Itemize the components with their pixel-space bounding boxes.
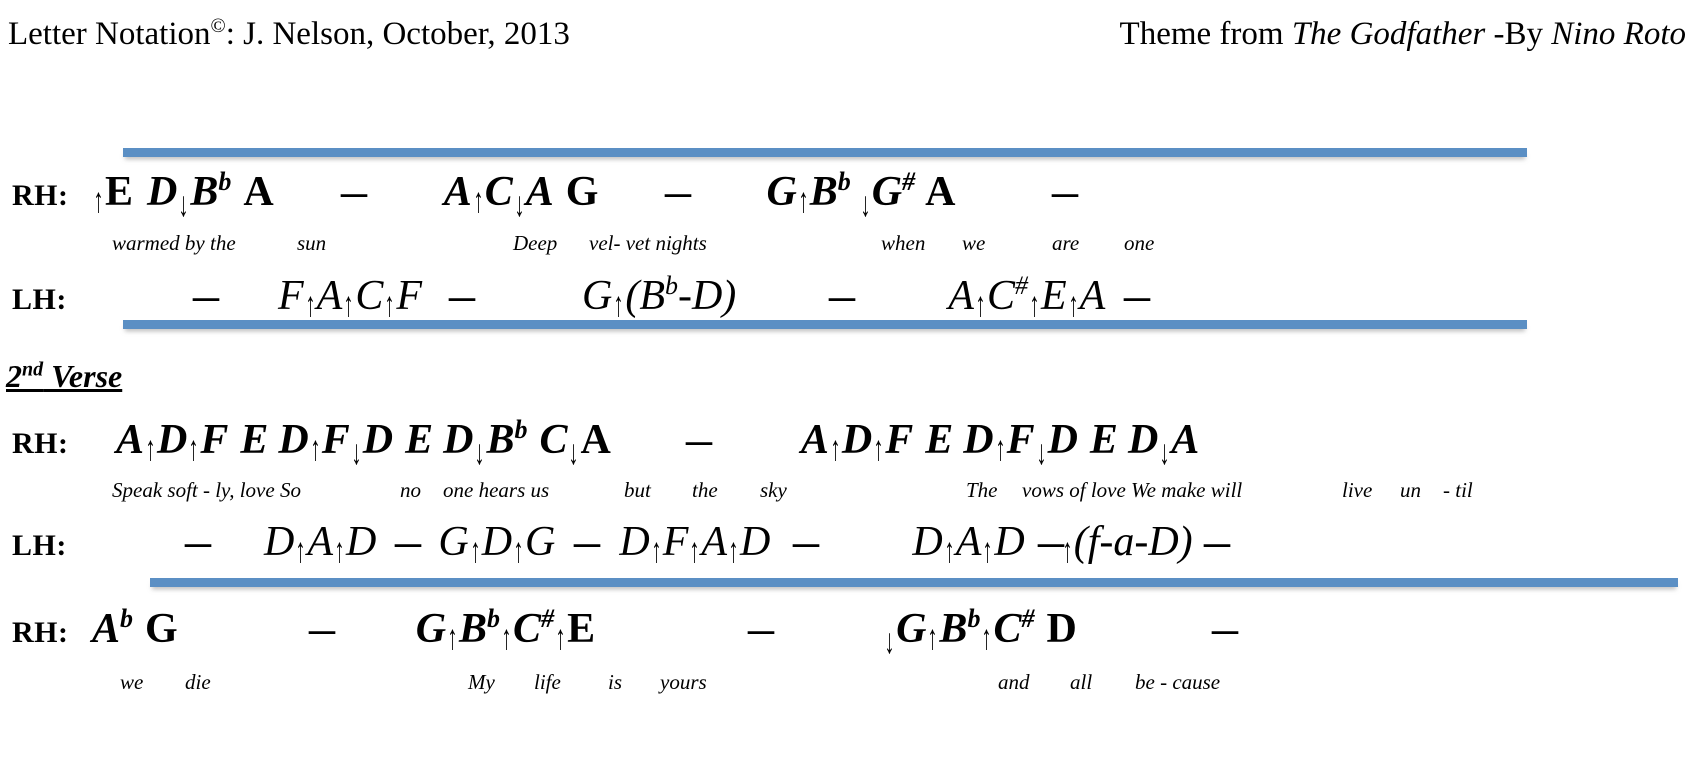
copyright-icon: © bbox=[211, 15, 226, 37]
note-Csharp: C# bbox=[987, 273, 1028, 319]
arrow-up-icon: ↑ bbox=[473, 181, 483, 222]
note-D: D bbox=[443, 417, 473, 463]
note-C: C bbox=[485, 169, 513, 215]
note-E: E bbox=[240, 417, 268, 463]
note-Bb: Bb bbox=[810, 169, 851, 215]
arrow-up-icon: ↑ bbox=[975, 285, 985, 326]
lyric-word: vel- vet nights bbox=[589, 231, 707, 256]
lyric-word: be - cause bbox=[1135, 670, 1220, 695]
lyric-word: but bbox=[624, 478, 651, 503]
note-A: A bbox=[444, 169, 472, 215]
lyric-word: - til bbox=[1443, 478, 1473, 503]
lyric-word: warmed by the bbox=[112, 231, 236, 256]
arrow-up-icon: ↑ bbox=[928, 618, 938, 659]
note-D: D bbox=[842, 417, 872, 463]
note-Csharp: C# bbox=[513, 606, 554, 652]
arrow-up-icon: ↑ bbox=[344, 285, 354, 326]
flat-accidental: b bbox=[514, 415, 527, 444]
rest-dash: – bbox=[1052, 168, 1078, 215]
arrow-up-icon: ↑ bbox=[310, 429, 320, 470]
note-G: G bbox=[896, 606, 926, 652]
note-G: G bbox=[416, 606, 446, 652]
arrow-down-icon: ↓ bbox=[1160, 433, 1170, 474]
note-Gsharp: G# bbox=[872, 169, 915, 215]
arrow-up-icon: ↑ bbox=[296, 531, 306, 572]
note-A: A bbox=[526, 169, 554, 215]
arrow-up-icon: ↑ bbox=[513, 531, 523, 572]
note-D: D bbox=[1046, 606, 1076, 652]
arrow-up-icon: ↑ bbox=[555, 618, 565, 659]
lyric-word: die bbox=[185, 670, 211, 695]
lyric-word: all bbox=[1070, 670, 1092, 695]
note-A: A bbox=[701, 519, 727, 565]
lyric-word: Speak soft - ly, love So bbox=[112, 478, 301, 503]
note-D: D bbox=[912, 519, 942, 565]
system-3-rh-notes: AbG–G↑Bb↑C#↑E–↓G↑Bb↑C#D– bbox=[92, 605, 1235, 653]
note-A: A bbox=[116, 417, 144, 463]
arrow-down-icon: ↓ bbox=[569, 433, 579, 474]
note-D: D bbox=[994, 519, 1024, 565]
rest-dash: – bbox=[449, 272, 475, 319]
note-Bb: Bb bbox=[939, 606, 980, 652]
lyric-word: The bbox=[966, 478, 998, 503]
note-G: G bbox=[438, 519, 468, 565]
note-G: G bbox=[566, 169, 599, 215]
arrow-up-icon: ↑ bbox=[145, 429, 155, 470]
rest-dash: – bbox=[686, 416, 712, 463]
flat-accidental: b bbox=[218, 167, 231, 196]
lyric-word: yours bbox=[660, 670, 707, 695]
arrow-down-icon: ↓ bbox=[514, 185, 524, 226]
arrow-up-icon: ↑ bbox=[1062, 531, 1072, 572]
note-D: D bbox=[1128, 417, 1158, 463]
arrow-up-icon: ↑ bbox=[189, 429, 199, 470]
header-composer-name: Nino Roto bbox=[1551, 16, 1686, 52]
note-E: E bbox=[567, 606, 595, 652]
note-G: G bbox=[582, 273, 612, 319]
rest-dash: – bbox=[1204, 518, 1230, 565]
arrow-up-icon: ↑ bbox=[334, 531, 344, 572]
system-1-left-hand-row: LH:–F↑A↑C↑F–G↑(Bb-D)–A↑C#↑E↑A– bbox=[0, 272, 1692, 320]
note-Bb: Bb bbox=[459, 606, 500, 652]
note-A: A bbox=[243, 169, 273, 215]
note-E: E bbox=[1041, 273, 1067, 319]
arrow-up-icon: ↑ bbox=[470, 531, 480, 572]
arrow-up-icon: ↑ bbox=[798, 181, 808, 222]
note-F: F bbox=[200, 417, 228, 463]
staff-divider-top bbox=[123, 148, 1527, 157]
arrow-up-icon: ↑ bbox=[830, 429, 840, 470]
verse-2-heading: 2nd Verse bbox=[6, 358, 122, 395]
system-3-right-hand-row: RH:AbG–G↑Bb↑C#↑E–↓G↑Bb↑C#D– bbox=[0, 605, 1692, 653]
lyric-word: when bbox=[881, 231, 925, 256]
system-1-lh-notes: –F↑A↑C↑F–G↑(Bb-D)–A↑C#↑E↑A– bbox=[92, 272, 1147, 320]
lyric-word: is bbox=[608, 670, 622, 695]
system-2-rh-notes: A↑D↑FED↑F↓DED↓BbC↓A–A↑D↑FED↑F↓DED↓A bbox=[92, 416, 1199, 464]
flat-accidental: b bbox=[665, 271, 678, 300]
arrow-up-icon: ↑ bbox=[305, 285, 315, 326]
lyric-word: are bbox=[1052, 231, 1079, 256]
system-2-lh-notes: –D↑A↑D–G↑D↑G–D↑F↑A↑D–D↑A↑D–↑(f-a-D)– bbox=[92, 518, 1227, 566]
header-right-title: Theme from The Godfather -By Nino Roto bbox=[1120, 16, 1686, 53]
sharp-accidental: # bbox=[1021, 604, 1034, 633]
lyric-word: one hears us bbox=[443, 478, 549, 503]
note-D: D bbox=[963, 417, 993, 463]
lh-label: LH: bbox=[0, 283, 92, 317]
note-Bb: Bb bbox=[486, 417, 527, 463]
note-A: A bbox=[956, 519, 982, 565]
note-D: D bbox=[278, 417, 308, 463]
note-D: D bbox=[482, 519, 512, 565]
note-Bb: Bb bbox=[190, 169, 231, 215]
rh-label: RH: bbox=[0, 179, 92, 213]
lyric-word: we bbox=[120, 670, 143, 695]
sharp-accidental: # bbox=[1015, 271, 1028, 300]
arrow-up-icon: ↑ bbox=[1068, 285, 1078, 326]
rest-dash: – bbox=[309, 605, 335, 652]
rest-dash: – bbox=[185, 518, 211, 565]
rest-dash: – bbox=[665, 168, 691, 215]
verse-word: Verse bbox=[43, 358, 122, 394]
header-title-text: Letter Notation bbox=[8, 16, 211, 52]
flat-accidental: b bbox=[120, 604, 133, 633]
system-1-right-hand-row: RH:↑ED↓BbA–A↑C↓AG–G↑Bb↓G#A– bbox=[0, 168, 1692, 216]
note-F: F bbox=[885, 417, 913, 463]
staff-divider-middle bbox=[123, 320, 1527, 329]
flat-accidental: b bbox=[967, 604, 980, 633]
lyric-word: we bbox=[962, 231, 985, 256]
lyric-word: sun bbox=[297, 231, 326, 256]
header-work-title: The Godfather bbox=[1292, 16, 1485, 52]
page-header: Letter Notation©: J. Nelson, October, 20… bbox=[0, 0, 1692, 70]
sharp-accidental: # bbox=[541, 604, 554, 633]
system-2-left-hand-row: LH:–D↑A↑D–G↑D↑G–D↑F↑A↑D–D↑A↑D–↑(f-a-D)– bbox=[0, 518, 1692, 566]
rest-dash: – bbox=[1038, 518, 1064, 565]
arrow-up-icon: ↑ bbox=[983, 531, 993, 572]
rest-dash: – bbox=[793, 518, 819, 565]
note-C: C bbox=[539, 417, 567, 463]
note-Csharp: C# bbox=[993, 606, 1034, 652]
arrow-up-icon: ↑ bbox=[651, 531, 661, 572]
note-G: G bbox=[145, 606, 178, 652]
note-A: A bbox=[925, 169, 955, 215]
arrow-up-icon: ↑ bbox=[501, 618, 511, 659]
note-F: F bbox=[1007, 417, 1035, 463]
arrow-up-icon: ↑ bbox=[385, 285, 395, 326]
lyric-word: no bbox=[400, 478, 421, 503]
arrow-up-icon: ↑ bbox=[995, 429, 1005, 470]
lyric-word: one bbox=[1124, 231, 1154, 256]
system-1-rh-notes: ↑ED↓BbA–A↑C↓AG–G↑Bb↓G#A– bbox=[92, 168, 1075, 216]
rest-dash: – bbox=[574, 518, 600, 565]
flat-accidental: b bbox=[487, 604, 500, 633]
header-left-credit: Letter Notation©: J. Nelson, October, 20… bbox=[8, 16, 570, 53]
lyric-word: sky bbox=[760, 478, 787, 503]
arrow-up-icon: ↑ bbox=[614, 285, 624, 326]
note-G: G bbox=[766, 169, 796, 215]
arrow-down-icon: ↓ bbox=[475, 433, 485, 474]
note-D: D bbox=[147, 169, 177, 215]
rest-dash: – bbox=[395, 518, 421, 565]
rh-label: RH: bbox=[0, 427, 92, 461]
note-A: A bbox=[801, 417, 829, 463]
chord-group: (Bb-D) bbox=[625, 273, 736, 319]
arrow-up-icon: ↑ bbox=[93, 181, 103, 222]
rest-dash: – bbox=[748, 605, 774, 652]
rest-dash: – bbox=[1212, 605, 1238, 652]
arrow-up-icon: ↑ bbox=[944, 531, 954, 572]
arrow-down-icon: ↓ bbox=[351, 433, 361, 474]
note-A: A bbox=[317, 273, 343, 319]
note-Ab: Ab bbox=[92, 606, 133, 652]
staff-divider-bottom bbox=[150, 578, 1678, 587]
rest-dash: – bbox=[1124, 272, 1150, 319]
lyric-word: vows of love We make will bbox=[1022, 478, 1242, 503]
note-F: F bbox=[322, 417, 350, 463]
flat-accidental: b bbox=[838, 167, 851, 196]
arrow-up-icon: ↑ bbox=[447, 618, 457, 659]
rest-dash: – bbox=[341, 168, 367, 215]
lyric-word: un bbox=[1400, 478, 1421, 503]
header-author-text: : J. Nelson, October, 2013 bbox=[226, 16, 570, 52]
rest-dash: – bbox=[829, 272, 855, 319]
lyric-word: live bbox=[1342, 478, 1372, 503]
note-A: A bbox=[1080, 273, 1106, 319]
arrow-up-icon: ↑ bbox=[690, 531, 700, 572]
sharp-accidental: # bbox=[902, 167, 915, 196]
arrow-down-icon: ↓ bbox=[884, 622, 894, 663]
note-E: E bbox=[925, 417, 953, 463]
note-A: A bbox=[580, 417, 610, 463]
note-A: A bbox=[948, 273, 974, 319]
note-D: D bbox=[346, 519, 376, 565]
note-G: G bbox=[525, 519, 555, 565]
verse-ordinal-suffix: nd bbox=[22, 358, 43, 380]
note-E: E bbox=[405, 417, 433, 463]
header-by-text: -By bbox=[1485, 16, 1551, 52]
note-D: D bbox=[619, 519, 649, 565]
arrow-down-icon: ↓ bbox=[1036, 433, 1046, 474]
system-2-right-hand-row: RH:A↑D↑FED↑F↓DED↓BbC↓A–A↑D↑FED↑F↓DED↓A bbox=[0, 416, 1692, 464]
lyric-word: life bbox=[534, 670, 561, 695]
verse-number: 2 bbox=[6, 358, 22, 394]
lyric-word: the bbox=[692, 478, 718, 503]
rh-label: RH: bbox=[0, 616, 92, 650]
note-A: A bbox=[307, 519, 333, 565]
note-D: D bbox=[157, 417, 187, 463]
lyric-word: and bbox=[998, 670, 1030, 695]
note-E: E bbox=[105, 169, 133, 215]
rest-dash: – bbox=[193, 272, 219, 319]
note-E: E bbox=[1090, 417, 1118, 463]
arrow-up-icon: ↑ bbox=[873, 429, 883, 470]
arrow-up-icon: ↑ bbox=[982, 618, 992, 659]
chord-group: (f-a-D) bbox=[1074, 519, 1193, 565]
note-D: D bbox=[363, 417, 393, 463]
header-theme-prefix: Theme from bbox=[1120, 16, 1292, 52]
note-A: A bbox=[1171, 417, 1199, 463]
note-D: D bbox=[1048, 417, 1078, 463]
lyric-word: Deep bbox=[513, 231, 557, 256]
arrow-up-icon: ↑ bbox=[1029, 285, 1039, 326]
note-D: D bbox=[740, 519, 770, 565]
note-F: F bbox=[396, 273, 422, 319]
arrow-up-icon: ↑ bbox=[728, 531, 738, 572]
note-C: C bbox=[355, 273, 383, 319]
note-D: D bbox=[264, 519, 294, 565]
lh-label: LH: bbox=[0, 529, 92, 563]
note-F: F bbox=[278, 273, 304, 319]
note-F: F bbox=[663, 519, 689, 565]
arrow-down-icon: ↓ bbox=[860, 185, 870, 226]
lyric-word: My bbox=[468, 670, 495, 695]
arrow-down-icon: ↓ bbox=[179, 185, 189, 226]
